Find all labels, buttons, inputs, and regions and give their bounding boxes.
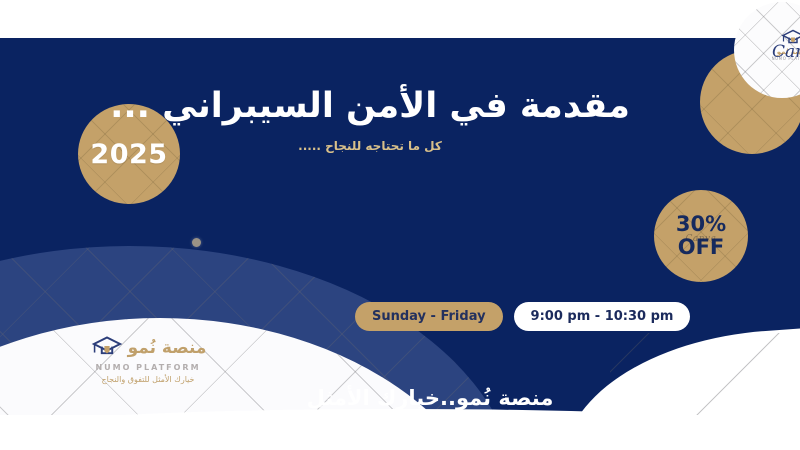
logo-tagline: خيارك الأمثل للتفوق والنجاح xyxy=(78,375,218,384)
bottom-tagline: منصة نُمو..خيارك الأمثل xyxy=(0,386,800,410)
stray-dot-artifact xyxy=(192,238,201,247)
schedule-time-badge[interactable]: 9:00 pm - 10:30 pm xyxy=(514,302,691,331)
page-subtitle: كل ما تحتاجه للنجاح ..... xyxy=(0,139,800,153)
numo-platform-logo: منصة نُمو NUMO PLATFORM خيارك الأمثل للت… xyxy=(78,334,218,384)
graduation-cap-icon xyxy=(90,334,124,362)
discount-badge: 30% OFF Canva xyxy=(654,190,748,282)
banner-canvas: منصة نُمو NUMO PLATFORM Canva 2025 مقدمة… xyxy=(0,0,800,450)
schedule-row: Sunday - Friday 9:00 pm - 10:30 pm xyxy=(355,302,690,331)
headline-block: مقدمة في الأمن السيبراني ... كل ما تحتاج… xyxy=(0,86,800,153)
schedule-days-badge[interactable]: Sunday - Friday xyxy=(355,302,503,331)
logo-subtitle: NUMO PLATFORM xyxy=(78,363,218,372)
logo-name: منصة نُمو xyxy=(128,340,207,357)
discount-percent-label: 30% xyxy=(676,214,726,235)
canva-watermark-top-right: Canva xyxy=(772,42,800,62)
canva-watermark-discount: Canva xyxy=(654,234,748,244)
page-title: مقدمة في الأمن السيبراني ... xyxy=(0,86,800,127)
logo-row: منصة نُمو xyxy=(78,334,218,362)
